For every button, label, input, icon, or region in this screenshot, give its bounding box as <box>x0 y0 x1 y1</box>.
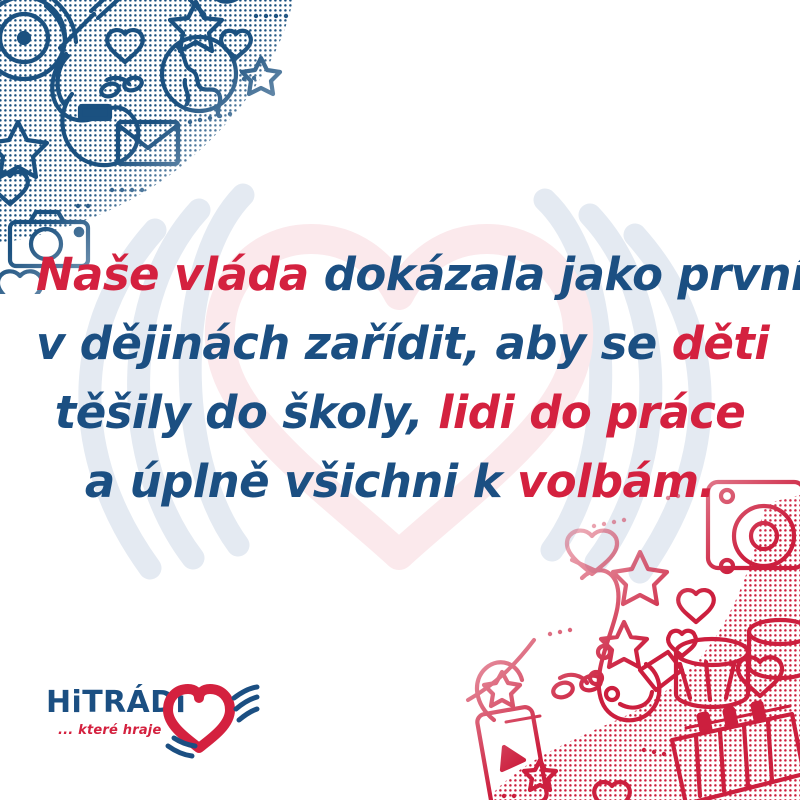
quote-line-3: těšily do školy, lidi do práce <box>36 378 764 447</box>
quote-line-2-segment-1: v dějinách zařídit, aby se <box>36 317 672 370</box>
quote-line-4-segment-1: a úplně všichni k <box>85 455 517 508</box>
music-doodle-pattern-red <box>444 474 800 800</box>
quote-line-1: Naše vláda dokázala jako první <box>36 240 764 309</box>
hitradio-logo[interactable]: HiTRÁDi ... které hraje <box>46 678 266 762</box>
logo-heart-wave-mark <box>162 676 266 760</box>
social-media-quote-card: Naše vláda dokázala jako první v dějinác… <box>0 0 800 800</box>
quote-line-1-segment-1: Naše vláda <box>36 248 309 301</box>
logo-tagline: ... které hraje <box>58 724 161 737</box>
quote-text-block: Naše vláda dokázala jako první v dějinác… <box>0 240 800 516</box>
quote-line-2: v dějinách zařídit, aby se děti <box>36 309 764 378</box>
quote-line-2-segment-2: děti <box>672 317 769 370</box>
quote-line-3-segment-1: těšily do školy, <box>55 386 438 439</box>
quote-line-3-segment-2: lidi do práce <box>438 386 745 439</box>
quote-line-4: a úplně všichni k volbám. <box>36 447 764 516</box>
quote-line-1-segment-2: dokázala jako první <box>309 248 800 301</box>
quote-line-4-segment-2: volbám. <box>517 455 715 508</box>
sound-wave-icon <box>234 687 257 720</box>
